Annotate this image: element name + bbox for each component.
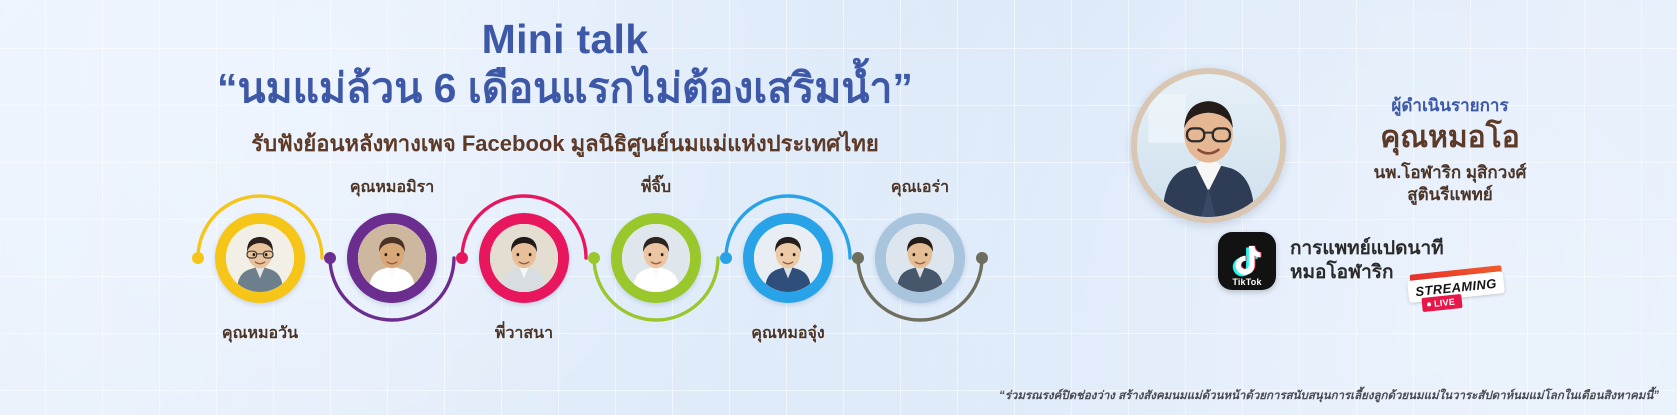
headline-thai: “นมแม่ล้วน 6 เดือนแรกไม่ต้องเสริมน้ำ” (0, 61, 1130, 116)
headline-subtitle: รับฟังย้อนหลังทางเพจ Facebook มูลนิธิศูน… (0, 126, 1130, 161)
connector-node-dot (852, 252, 864, 264)
speaker-photo (490, 224, 558, 292)
host-info: ผู้ดำเนินรายการ คุณหมอโอ นพ.โอฬาริก มุสิ… (1300, 92, 1600, 207)
host-nickname: คุณหมอโอ (1300, 121, 1600, 156)
page-title: Mini talk (0, 18, 1130, 61)
speaker-photo (754, 224, 822, 292)
headline-block: Mini talk “นมแม่ล้วน 6 เดือนแรกไม่ต้องเส… (0, 18, 1130, 161)
connector-node-dot (456, 252, 468, 264)
speaker-name-label: พี่จิ๊บ (641, 175, 671, 200)
speaker-name-label: คุณหมอมิรา (350, 175, 434, 200)
speaker-name-label: พี่วาสนา (495, 321, 553, 346)
tiktok-handle-line1: การแพทย์แปดนาที (1290, 237, 1444, 261)
speaker-photo (358, 224, 426, 292)
live-label: LIVE (1434, 297, 1456, 309)
live-dot-icon (1427, 302, 1431, 306)
speaker-photo (226, 224, 294, 292)
event-banner: Mini talk “นมแม่ล้วน 6 เดือนแรกไม่ต้องเส… (0, 0, 1677, 415)
speaker-photo (886, 224, 954, 292)
speaker-name-label: คุณหมอจุ๋ง (751, 321, 824, 346)
speaker-avatar (215, 213, 305, 303)
host-role-label: ผู้ดำเนินรายการ (1300, 92, 1600, 119)
speaker-avatar (347, 213, 437, 303)
tiktok-wordmark: TikTok (1218, 277, 1276, 287)
streaming-badge: STREAMING LIVE (1408, 268, 1504, 314)
speakers-section: วิทยากร คุณหมอวัน คุณหมอมิรา (80, 188, 1030, 338)
connector-node-dot (192, 252, 204, 264)
connector-node-dot (976, 252, 988, 264)
tiktok-icon[interactable]: TikTok (1218, 232, 1276, 290)
host-specialty: สูตินรีแพทย์ (1300, 184, 1600, 207)
host-avatar-photo (1137, 74, 1280, 217)
connector-node-dot (720, 252, 732, 264)
speaker-name-label: คุณเอร่า (891, 175, 949, 200)
host-full-name: นพ.โอฬาริก มุสิกวงศ์ (1300, 162, 1600, 185)
host-portrait-illustration (1137, 74, 1280, 217)
speaker-avatar (743, 213, 833, 303)
footer-note: “ร่วมรณรงค์ปิดช่องว่าง สร้างสังคมนมแม่ด้… (999, 387, 1659, 405)
host-avatar (1131, 68, 1286, 223)
tiktok-note-glyph (1232, 245, 1262, 277)
connector-node-dot (588, 252, 600, 264)
speaker-avatar (479, 213, 569, 303)
speaker-avatar (611, 213, 701, 303)
connector-node-dot (324, 252, 336, 264)
speaker-avatar (875, 213, 965, 303)
live-badge: LIVE (1421, 294, 1462, 312)
speaker-photo (622, 224, 690, 292)
speaker-name-label: คุณหมอวัน (222, 321, 298, 346)
